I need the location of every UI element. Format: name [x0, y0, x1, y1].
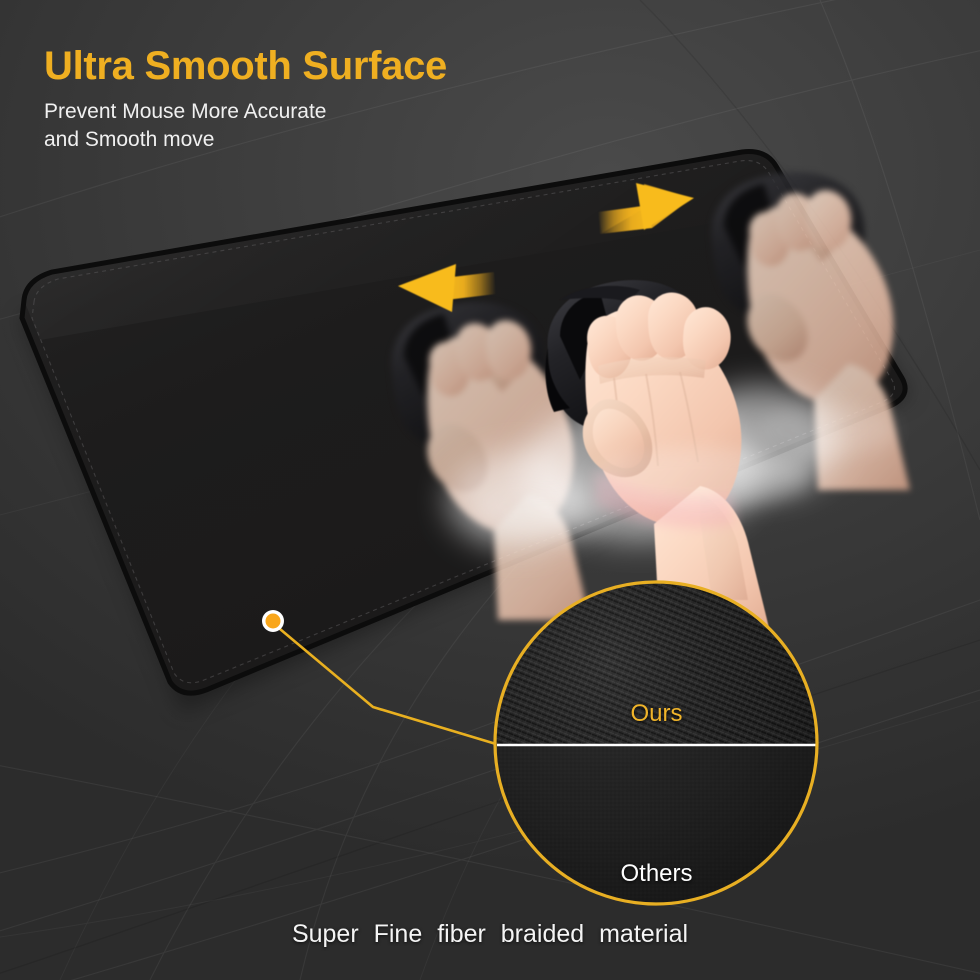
- callout-dot[interactable]: [262, 610, 284, 632]
- ours-label: Ours: [495, 700, 818, 728]
- material-caption: Super Fine fiber braided material: [0, 920, 980, 949]
- page-title: Ultra Smooth Surface: [44, 44, 447, 89]
- page-subtitle: Prevent Mouse More Accurate and Smooth m…: [44, 98, 447, 154]
- heading-block: Ultra Smooth Surface Prevent Mouse More …: [44, 44, 447, 154]
- product-marketing-image: Ours Others Ultra Smooth Surface Prevent…: [0, 0, 980, 980]
- callout-leader-line: [274, 624, 506, 747]
- others-label: Others: [495, 860, 818, 888]
